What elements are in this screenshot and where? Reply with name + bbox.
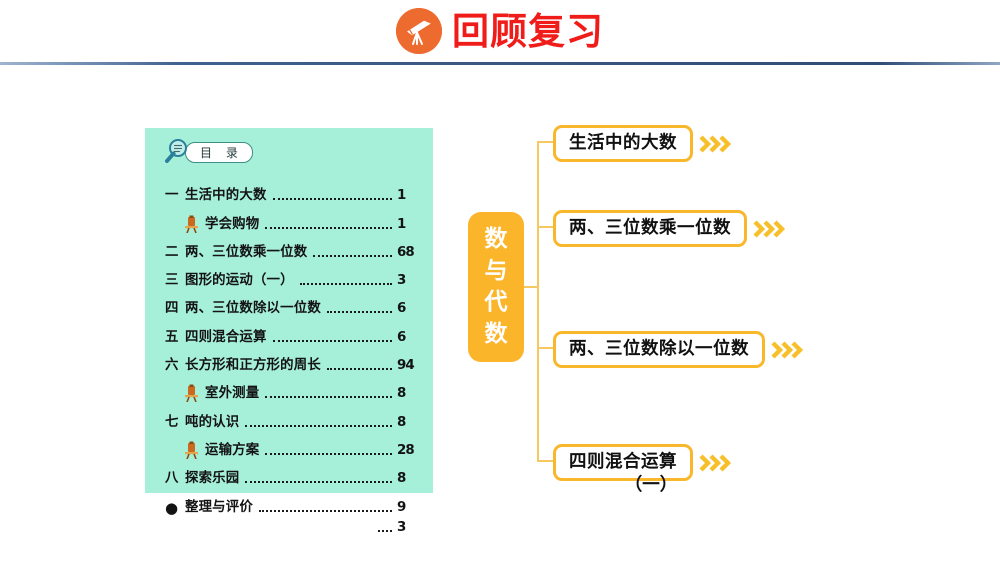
toc-leader-dots	[378, 521, 392, 532]
mindmap-leaf-sublabel: （一）	[553, 477, 749, 495]
toc-row: 一 生活中的大数 1	[145, 176, 433, 204]
toc-row-page: 9	[397, 500, 423, 516]
toc-row-tail: 3	[145, 516, 433, 536]
toc-row-label: 四则混合运算	[185, 330, 267, 346]
toc-row: 五 四则混合运算 6	[145, 317, 433, 345]
chevron-right-triple-icon	[770, 339, 804, 361]
toc-leader-dots	[300, 274, 392, 285]
toc-row-marker: 六	[165, 358, 185, 374]
toc-row: 二 两、三位数乘一位数 68	[145, 233, 433, 261]
toc-row-marker: 二	[165, 245, 185, 261]
toc-row-label: 整理与评价	[185, 500, 253, 516]
telescope-stand-icon	[181, 441, 203, 459]
mindmap-leaf[interactable]: 生活中的大数	[553, 125, 732, 162]
toc-leader-dots	[265, 444, 392, 455]
toc-row-marker: 四	[165, 301, 185, 317]
toc-row: 四 两、三位数除以一位数 6	[145, 289, 433, 317]
toc-row-page: 6	[397, 330, 423, 346]
mindmap-branch-connector	[537, 347, 554, 349]
toc-row-marker: 三	[165, 273, 185, 289]
toc-row-label: 探索乐园	[185, 471, 239, 487]
toc-row-page: 68	[397, 245, 423, 261]
toc-row-label: 两、三位数乘一位数	[185, 245, 307, 261]
header-title-group: 回顾复习	[0, 2, 1000, 60]
telescope-icon	[396, 8, 442, 54]
toc-row: 三 图形的运动（一） 3	[145, 261, 433, 289]
toc-row-label: 吨的认识	[185, 415, 239, 431]
toc-leader-dots	[245, 416, 392, 427]
toc-row: 室外测量 8	[145, 374, 433, 402]
chevron-right-triple-icon	[698, 452, 732, 474]
toc-row-marker: 七	[165, 415, 185, 431]
toc-tail-page: 3	[397, 520, 423, 536]
toc-row-page: 28	[397, 443, 423, 459]
mindmap-root-node: 数 与 代 数	[468, 212, 524, 362]
root-char: 数	[485, 323, 508, 346]
telescope-stand-icon	[181, 384, 203, 402]
toc-leader-dots	[245, 472, 392, 483]
page-header: 回顾复习	[0, 0, 1000, 64]
toc-row-page: 1	[397, 188, 423, 204]
toc-row-page: 6	[397, 301, 423, 317]
toc-list: 一 生活中的大数 1 学会购物 1 二 两、三位数乘一位数	[145, 176, 433, 536]
toc-row-page: 8	[397, 415, 423, 431]
toc-badge: 目 录	[161, 137, 253, 167]
toc-row: 八 探索乐园 8	[145, 459, 433, 487]
toc-leader-dots	[273, 331, 392, 342]
toc-row-page: 1	[397, 217, 423, 233]
toc-leader-dots	[313, 246, 392, 257]
toc-leader-dots	[327, 302, 392, 313]
mindmap-leaf-label: 两、三位数乘一位数	[553, 210, 747, 247]
toc-row-page: 94	[397, 358, 423, 374]
textbook-toc-image: 目 录 一 生活中的大数 1 学会购物 1	[145, 128, 433, 493]
toc-row-page: 3	[397, 273, 423, 289]
root-char: 代	[485, 291, 508, 314]
toc-row-marker: 八	[165, 471, 185, 487]
mindmap-branch-connector	[537, 141, 554, 143]
toc-row-label: 室外测量	[205, 386, 259, 402]
toc-leader-dots	[265, 387, 392, 398]
toc-row-marker: ●	[165, 500, 185, 516]
mindmap-root-connector	[524, 286, 539, 288]
mindmap: 数 与 代 数 生活中的大数 两、三位数乘一位数	[460, 118, 800, 498]
chevron-right-triple-icon	[752, 218, 786, 240]
toc-row-label: 两、三位数除以一位数	[185, 301, 321, 317]
mindmap-leaf[interactable]: 两、三位数乘一位数	[553, 210, 786, 247]
toc-leader-dots	[273, 189, 392, 200]
toc-leader-dots	[259, 501, 392, 512]
header-divider	[0, 62, 1000, 65]
mindmap-branch-connector	[537, 460, 554, 462]
toc-row-label: 图形的运动（一）	[185, 273, 294, 289]
root-char: 数	[485, 228, 508, 251]
toc-row: 六 长方形和正方形的周长 94	[145, 346, 433, 374]
page-title: 回顾复习	[452, 13, 604, 50]
toc-leader-dots	[265, 218, 392, 229]
telescope-stand-icon	[181, 215, 203, 233]
magnifier-icon	[161, 137, 191, 167]
mindmap-leaf-label: 生活中的大数	[553, 125, 693, 162]
toc-row-label: 学会购物	[205, 217, 259, 233]
toc-row: 学会购物 1	[145, 204, 433, 232]
toc-row-page: 8	[397, 386, 423, 402]
toc-row-marker: 一	[165, 188, 185, 204]
toc-row: 七 吨的认识 8	[145, 402, 433, 430]
mindmap-leaf[interactable]: 两、三位数除以一位数	[553, 331, 804, 368]
toc-row: ● 整理与评价 9	[145, 487, 433, 515]
toc-row-marker: 五	[165, 330, 185, 346]
mindmap-leaf-label: 两、三位数除以一位数	[553, 331, 765, 368]
mindmap-branch-connector	[537, 226, 554, 228]
toc-row-label: 运输方案	[205, 443, 259, 459]
toc-leader-dots	[327, 359, 392, 370]
mindmap-bracket	[537, 141, 539, 461]
toc-row-page: 8	[397, 471, 423, 487]
toc-badge-label: 目 录	[185, 142, 253, 163]
chevron-right-triple-icon	[698, 133, 732, 155]
toc-row-label: 生活中的大数	[185, 188, 267, 204]
root-char: 与	[485, 260, 508, 283]
toc-row: 运输方案 28	[145, 431, 433, 459]
toc-row-label: 长方形和正方形的周长	[185, 358, 321, 374]
